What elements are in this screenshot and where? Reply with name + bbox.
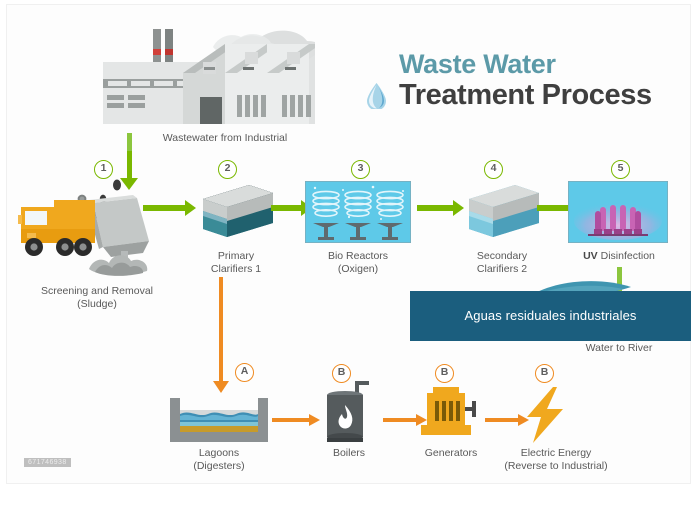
- title-line-1: Waste Water: [399, 49, 689, 79]
- byproduct-4-label-line-1: Electric Energy: [491, 447, 621, 460]
- byproduct-4-label-line-2: (Reverse to Industrial): [485, 460, 627, 473]
- byproduct-badge-a: A: [235, 363, 254, 382]
- step-1-label-line-1: Screening and Removal: [7, 285, 187, 298]
- arrow-lagoons-to-boilers: [272, 418, 310, 422]
- step-1-label-line-2: (Sludge): [7, 298, 187, 311]
- source-label: Wastewater from Industrial: [125, 132, 325, 145]
- title-line-2: Treatment Process: [399, 79, 689, 111]
- dump-truck-screening-icon: [7, 173, 177, 283]
- watermark-id: 671746938: [24, 458, 71, 467]
- factory-icon: [85, 7, 315, 132]
- boiler-flame-icon: [321, 381, 377, 443]
- step-3-label-line-1: Bio Reactors: [297, 250, 419, 263]
- lightning-bolt-icon: [523, 387, 571, 443]
- arrow-boilers-to-generators: [383, 418, 417, 422]
- byproduct-2-label: Boilers: [307, 447, 391, 460]
- step-2-label-line-2: Clarifiers 1: [177, 263, 295, 276]
- byproduct-1-label-line-1: Lagoons: [162, 447, 276, 460]
- arrow-step1-to-step2: [143, 205, 185, 211]
- step-4-label-line-1: Secondary: [443, 250, 561, 263]
- overlay-banner: Aguas residuales industriales: [410, 291, 691, 341]
- step-5-label-bold: UV: [583, 250, 598, 262]
- step-badge-2: 2: [218, 160, 237, 179]
- step-2-label-line-1: Primary: [177, 250, 295, 263]
- water-drop-icon: [367, 83, 386, 109]
- step-5-label-rest: Disinfection: [598, 250, 655, 262]
- arrow-step3-to-step4: [417, 205, 453, 211]
- lagoon-basin-icon: [170, 398, 268, 442]
- step-badge-4: 4: [484, 160, 503, 179]
- step-badge-3: 3: [351, 160, 370, 179]
- bio-reactor-icon: [305, 181, 411, 243]
- step-3-label-line-2: (Oxigen): [297, 263, 419, 276]
- byproduct-3-label: Generators: [407, 447, 495, 460]
- arrow-generators-to-energy: [485, 418, 519, 422]
- clarifier-tank-icon-secondary: [459, 179, 545, 247]
- page-title: Waste Water Treatment Process: [359, 49, 689, 111]
- byproduct-1-label-line-2: (Digesters): [162, 460, 276, 473]
- clarifier-tank-icon-primary: [193, 179, 279, 247]
- byproduct-badge-b-energy: B: [535, 364, 554, 383]
- byproduct-badge-b-generators: B: [435, 364, 454, 383]
- uv-lamp-icon: [568, 181, 668, 243]
- outflow-label: Water to River: [563, 342, 675, 355]
- diagram-area: Wastewater from Industrial Waste Water T…: [6, 4, 691, 484]
- arrow-step2-to-step3: [271, 205, 301, 211]
- step-4-label-line-2: Clarifiers 2: [443, 263, 561, 276]
- arrow-clarifier-to-lagoons: [219, 277, 223, 382]
- generator-icon: [417, 387, 483, 443]
- slide-canvas: Wastewater from Industrial Waste Water T…: [0, 0, 697, 512]
- overlay-banner-text: Aguas residuales industriales: [410, 291, 691, 341]
- step-badge-5: 5: [611, 160, 630, 179]
- step-5-label: UV Disinfection: [563, 250, 675, 263]
- inflow-line-segment: [127, 133, 132, 151]
